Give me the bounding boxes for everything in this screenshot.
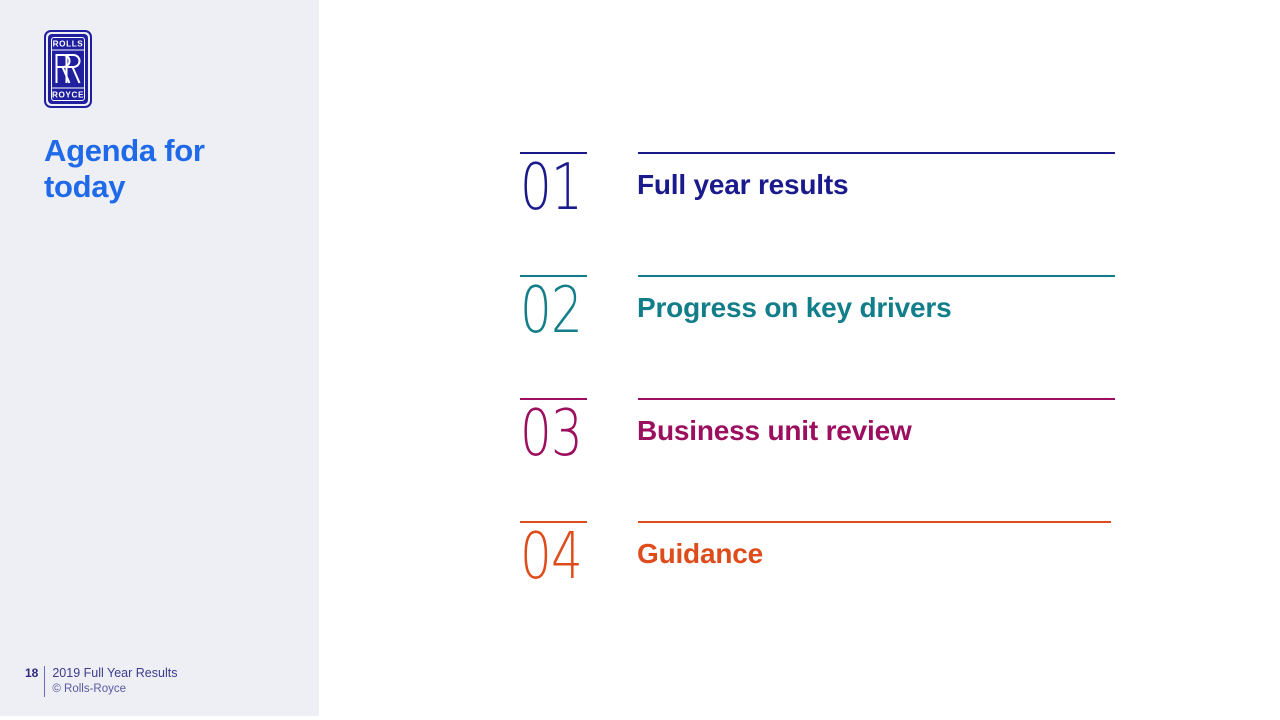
agenda-item-02[interactable]: 02 Progress on key drivers (520, 275, 1120, 398)
agenda-label-02[interactable]: Progress on key drivers (637, 293, 951, 324)
agenda-number-04: 04 (520, 525, 582, 589)
footer-deck-title: 2019 Full Year Results (52, 666, 177, 681)
svg-text:ROYCE: ROYCE (52, 91, 84, 100)
footer: 18 2019 Full Year Results © Rolls-Royce (25, 666, 177, 697)
footer-page-number: 18 (25, 666, 44, 681)
agenda-number-03: 03 (520, 402, 582, 466)
svg-text:ROLLS: ROLLS (53, 40, 84, 49)
footer-divider (44, 666, 45, 697)
agenda-number-02: 02 (520, 279, 582, 343)
agenda-rule-label-04 (638, 521, 1111, 523)
presentation-slide: ROLLS ROYCE Agenda for today 18 2019 Ful… (0, 0, 1280, 720)
footer-copyright: © Rolls-Royce (52, 682, 177, 697)
agenda-rule-label-01 (638, 152, 1115, 154)
agenda-label-04[interactable]: Guidance (637, 539, 763, 570)
agenda-item-04[interactable]: 04 Guidance (520, 521, 1120, 644)
agenda-item-03[interactable]: 03 Business unit review (520, 398, 1120, 521)
agenda-label-03[interactable]: Business unit review (637, 416, 912, 447)
agenda-label-01[interactable]: Full year results (637, 170, 848, 201)
agenda-rule-label-03 (638, 398, 1115, 400)
footer-text: 2019 Full Year Results © Rolls-Royce (52, 666, 177, 697)
agenda-rule-label-02 (638, 275, 1115, 277)
rolls-royce-logo: ROLLS ROYCE (44, 30, 92, 108)
agenda-number-01: 01 (520, 156, 582, 220)
agenda-list: 01 Full year results 02 Progress on key … (520, 152, 1120, 644)
page-title: Agenda for today (44, 133, 304, 204)
agenda-item-01[interactable]: 01 Full year results (520, 152, 1120, 275)
